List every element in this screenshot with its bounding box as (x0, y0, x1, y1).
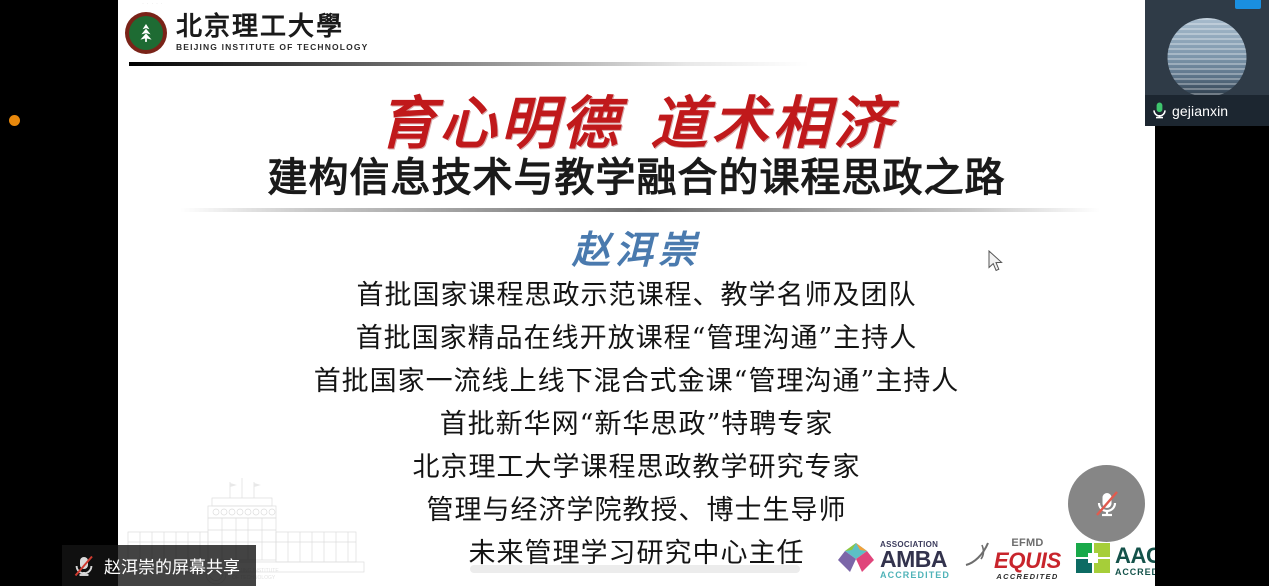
aacsb-square-icon (1075, 541, 1111, 580)
credential-line: 北京理工大学课程思政教学研究专家 (118, 446, 1155, 489)
screen-share-viewport: · · · · · 北京理工大學 BEIJING INSTITUTE OF TE… (0, 0, 1269, 586)
credential-line: 首批国家精品在线开放课程“管理沟通”主持人 (118, 317, 1155, 360)
slide-divider-bottom (470, 565, 800, 573)
participant-tile-gejianxin[interactable]: gejianxin (1145, 0, 1269, 126)
accreditation-logos: ASSOCIATION AMBA ACCREDITED EFMD EQUIS A… (836, 538, 1155, 581)
amba-accreditation-logo: ASSOCIATION AMBA ACCREDITED (836, 541, 950, 580)
university-logo: 北京理工大學 BEIJING INSTITUTE OF TECHNOLOGY (125, 12, 368, 54)
participant-tile-tab (1235, 0, 1261, 9)
amba-label: AMBA (880, 549, 950, 570)
screen-share-status-bar[interactable]: 赵洱崇的屏幕共享 (62, 545, 256, 586)
recording-indicator-dot (9, 115, 20, 126)
efmd-label: EFMD (994, 538, 1061, 549)
aacsb-accreditation-logo: AACSB ACCREDITED (1075, 541, 1155, 580)
bit-seal-icon (125, 12, 167, 54)
shared-slide-content: · · · · · 北京理工大學 BEIJING INSTITUTE OF TE… (118, 0, 1155, 586)
amba-accredited-label: ACCREDITED (880, 571, 950, 580)
slide-top-artifact: · · · · · (142, 1, 163, 7)
equis-label: EQUIS (994, 550, 1061, 572)
microphone-muted-icon (1089, 486, 1125, 522)
aacsb-accredited-label: ACCREDITED (1115, 568, 1155, 577)
slide-divider-top (180, 208, 1100, 212)
slide-subtitle: 建构信息技术与教学融合的课程思政之路 (118, 145, 1155, 203)
screen-share-label: 赵洱崇的屏幕共享 (104, 553, 240, 578)
speaker-name: 赵洱崇 (118, 219, 1155, 274)
participant-name-label: gejianxin (1172, 103, 1228, 119)
university-name-en: BEIJING INSTITUTE OF TECHNOLOGY (176, 43, 368, 52)
credential-line: 首批新华网“新华思政”特聘专家 (118, 403, 1155, 446)
speaker-credentials: 首批国家课程思政示范课程、教学名师及团队 首批国家精品在线开放课程“管理沟通”主… (118, 274, 1155, 575)
equis-accreditation-logo: EFMD EQUIS ACCREDITED (964, 538, 1061, 581)
participant-footer: gejianxin (1145, 95, 1269, 126)
efmd-swoosh-icon (964, 541, 990, 576)
avatar (1168, 18, 1247, 97)
amba-diamond-icon (836, 541, 876, 580)
credential-line: 管理与经济学院教授、博士生导师 (118, 489, 1155, 532)
credential-line: 首批国家课程思政示范课程、教学名师及团队 (118, 274, 1155, 317)
slide-header: 北京理工大學 BEIJING INSTITUTE OF TECHNOLOGY (118, 10, 1155, 66)
aacsb-label: AACSB (1115, 545, 1155, 567)
header-divider (129, 62, 809, 66)
mute-toggle-button[interactable] (1068, 465, 1145, 542)
university-name-cn: 北京理工大學 (176, 14, 368, 40)
microphone-unmuted-icon (1152, 101, 1167, 120)
credential-line: 首批国家一流线上线下混合式金课“管理沟通”主持人 (118, 360, 1155, 403)
microphone-muted-icon (73, 554, 95, 578)
university-wordmark: 北京理工大學 BEIJING INSTITUTE OF TECHNOLOGY (176, 14, 368, 52)
equis-accredited-label: ACCREDITED (994, 573, 1061, 581)
